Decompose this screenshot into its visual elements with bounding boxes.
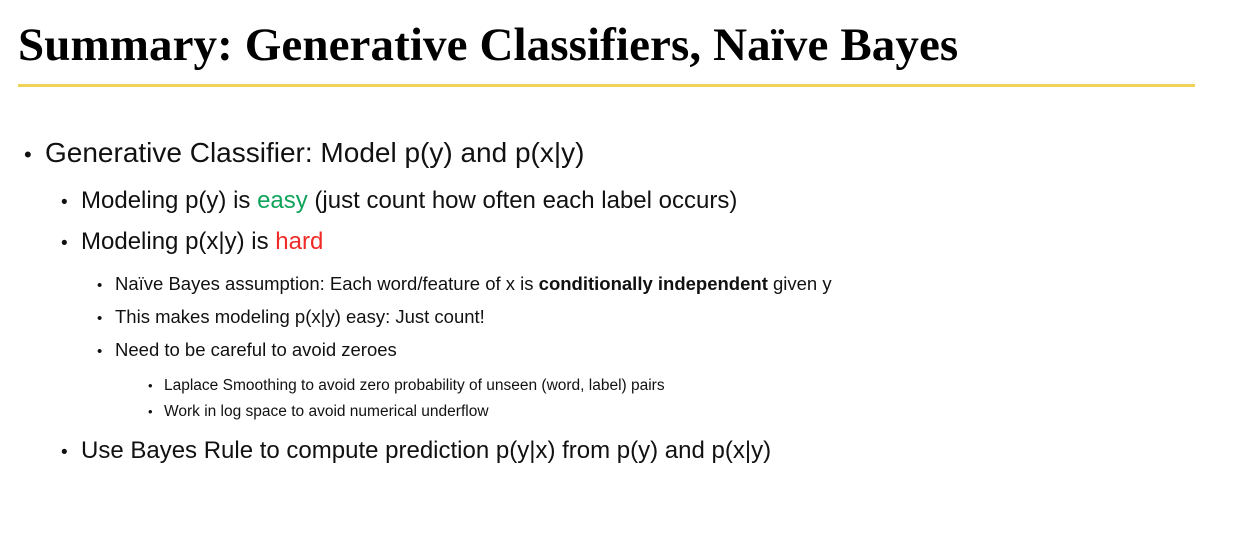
bullet-text-prefix: Modeling p(y) is xyxy=(81,187,257,214)
bullet-glyph-icon: • xyxy=(148,373,164,399)
bullet-item-generative-classifier: • Generative Classifier: Model p(y) and … xyxy=(0,131,1238,177)
bullet-item-modeling-py: • Modeling p(y) is easy (just count how … xyxy=(0,181,1238,222)
highlight-word-easy: easy xyxy=(257,187,308,214)
bullet-text: Modeling p(x|y) is hard xyxy=(81,222,1238,261)
bullet-item-bayes-rule: • Use Bayes Rule to compute prediction p… xyxy=(0,431,1238,472)
bullet-text: Use Bayes Rule to compute prediction p(y… xyxy=(81,431,1238,470)
bullet-glyph-icon: • xyxy=(97,336,115,367)
page-title: Summary: Generative Classifiers, Naïve B… xyxy=(18,16,1198,74)
bullet-text: This makes modeling p(x|y) easy: Just co… xyxy=(115,301,1238,332)
bullet-text-suffix: (just count how often each label occurs) xyxy=(308,187,738,214)
bullet-item-log-space: • Work in log space to avoid numerical u… xyxy=(0,399,1238,425)
bullet-glyph-icon: • xyxy=(97,270,115,301)
bullet-item-modeling-easy-just-count: • This makes modeling p(x|y) easy: Just … xyxy=(0,301,1238,334)
bullet-text: Naïve Bayes assumption: Each word/featur… xyxy=(115,268,1238,299)
slide-body-content: • Generative Classifier: Model p(y) and … xyxy=(0,131,1238,472)
highlight-word-hard: hard xyxy=(275,228,323,255)
bullet-item-naive-bayes-assumption: • Naïve Bayes assumption: Each word/feat… xyxy=(0,268,1238,301)
bullet-glyph-icon: • xyxy=(61,224,81,263)
bullet-text: Generative Classifier: Model p(y) and p(… xyxy=(45,131,1238,175)
bullet-glyph-icon: • xyxy=(61,183,81,222)
emphasis-conditionally-independent: conditionally independent xyxy=(539,273,768,294)
bullet-glyph-icon: • xyxy=(148,399,164,425)
bullet-glyph-icon: • xyxy=(97,303,115,334)
bullet-item-avoid-zeroes: • Need to be careful to avoid zeroes xyxy=(0,334,1238,367)
bullet-text: Need to be careful to avoid zeroes xyxy=(115,334,1238,365)
bullet-item-laplace-smoothing: • Laplace Smoothing to avoid zero probab… xyxy=(0,373,1238,399)
bullet-text-prefix: Modeling p(x|y) is xyxy=(81,228,275,255)
bullet-text-suffix: given y xyxy=(768,273,832,294)
bullet-item-modeling-pxy: • Modeling p(x|y) is hard xyxy=(0,222,1238,263)
bullet-text: Work in log space to avoid numerical und… xyxy=(164,399,1238,425)
slide-title-block: Summary: Generative Classifiers, Naïve B… xyxy=(18,16,1198,87)
title-divider-rule xyxy=(18,84,1195,87)
bullet-text: Modeling p(y) is easy (just count how of… xyxy=(81,181,1238,220)
bullet-glyph-icon: • xyxy=(24,133,45,177)
slide-canvas: Summary: Generative Classifiers, Naïve B… xyxy=(0,0,1238,539)
bullet-glyph-icon: • xyxy=(61,433,81,472)
bullet-text-prefix: Naïve Bayes assumption: Each word/featur… xyxy=(115,273,539,294)
bullet-text: Laplace Smoothing to avoid zero probabil… xyxy=(164,373,1238,399)
